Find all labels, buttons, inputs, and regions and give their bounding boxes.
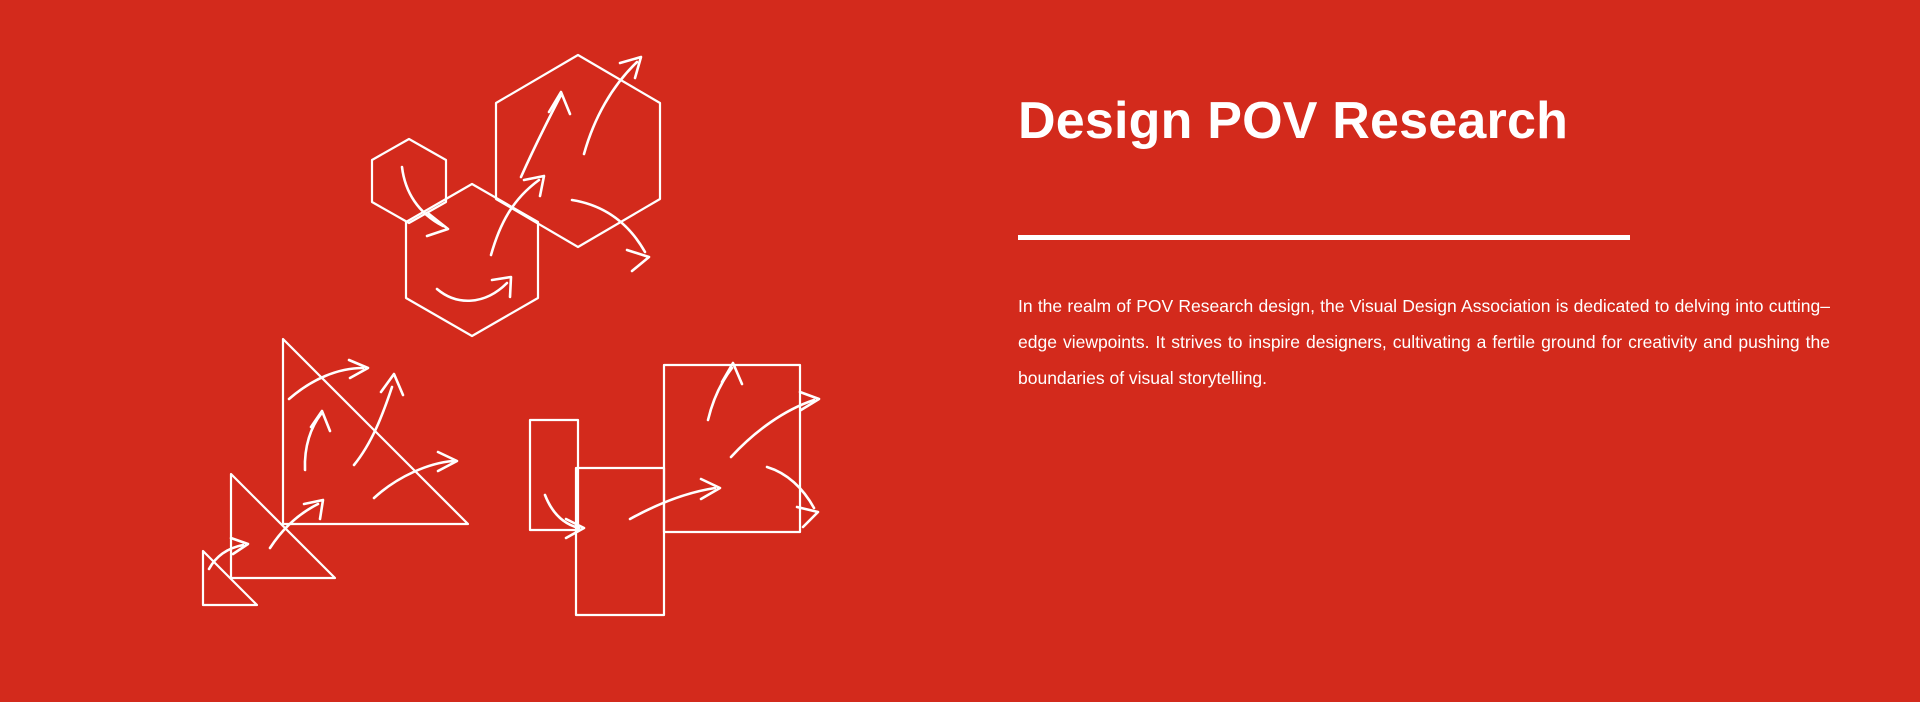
triangle-arrow-up-right-head [381,374,403,395]
rectangle-tall [576,468,664,615]
rectangle-arrow-right-centre [630,488,715,519]
page-title: Design POV Research [1018,90,1830,152]
rectangle-arrow-down-right [767,467,814,508]
hexagon-arrow-smile [437,283,507,301]
hexagon-arrow-diagonal-head [524,176,544,196]
hexagon-arrow-up [521,95,561,177]
body-paragraph: In the realm of POV Research design, the… [1018,288,1830,396]
illustration-canvas [0,0,900,702]
triangle-arrow-up-right [354,387,392,465]
hexagon-cluster [372,55,660,336]
illustration-panel [0,0,900,702]
triangle-arrow-diagonal [270,504,318,548]
triangle-arrow-right-lower [374,461,453,498]
hexagon-large [496,55,660,247]
hexagon-arrow-down-right-head [627,250,649,271]
text-panel: Design POV Research In the realm of POV … [1018,0,1830,702]
hexagon-small [372,139,446,223]
title-divider [1018,235,1630,240]
hexagon-medium [406,184,538,336]
rectangle-cluster [530,363,819,615]
slide-root: Design POV Research In the realm of POV … [0,0,1920,702]
rectangle-large [664,365,800,532]
triangle-arrow-small-right [209,545,243,569]
hexagon-arrow-southeast-small [402,167,443,226]
rectangle-arrow-up [708,368,732,420]
hexagon-arrow-northeast [584,62,637,154]
rectangle-arrow-up-head [722,363,742,384]
triangle-cluster [203,339,468,605]
